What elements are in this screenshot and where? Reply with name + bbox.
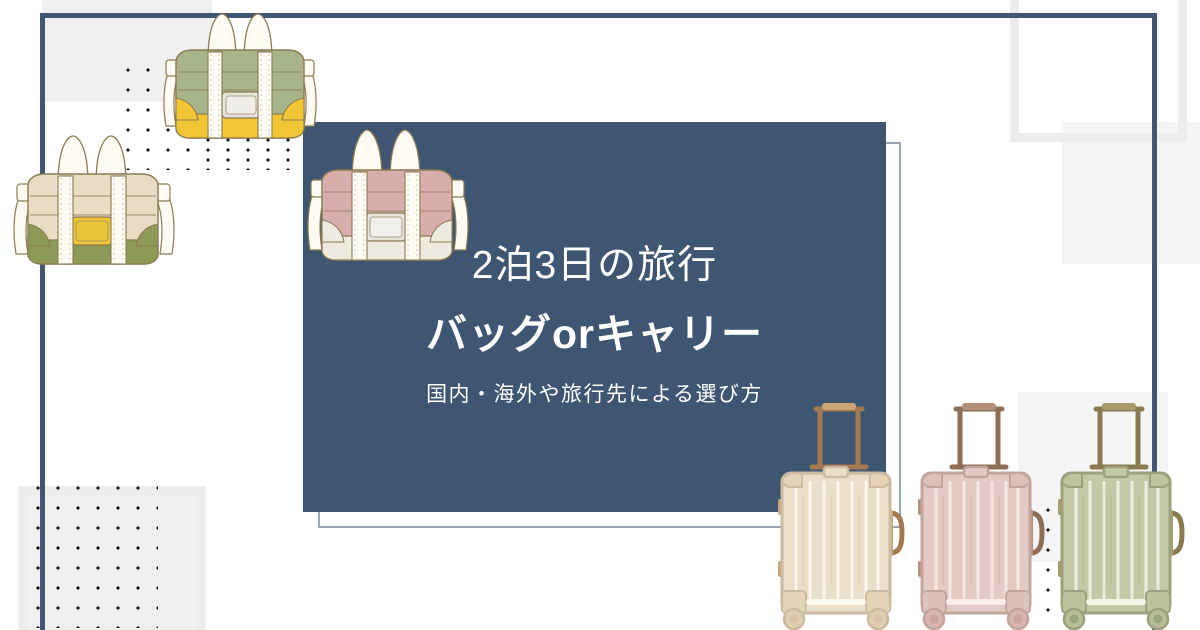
cream-duffle-bag <box>0 120 199 275</box>
hero-title-line1: 2泊3日の旅行 <box>472 246 717 287</box>
hero-text-group: 2泊3日の旅行 バッグorキャリー 国内・海外や旅行先による選び方 <box>303 122 886 512</box>
green-suitcase <box>1052 395 1187 630</box>
poster-canvas: 2泊3日の旅行 バッグorキャリー 国内・海外や旅行先による選び方 <box>0 0 1200 630</box>
hero-subtitle: 国内・海外や旅行先による選び方 <box>426 378 763 408</box>
pink-suitcase <box>912 395 1047 630</box>
hero-title-line2: バッグorキャリー <box>426 313 763 356</box>
